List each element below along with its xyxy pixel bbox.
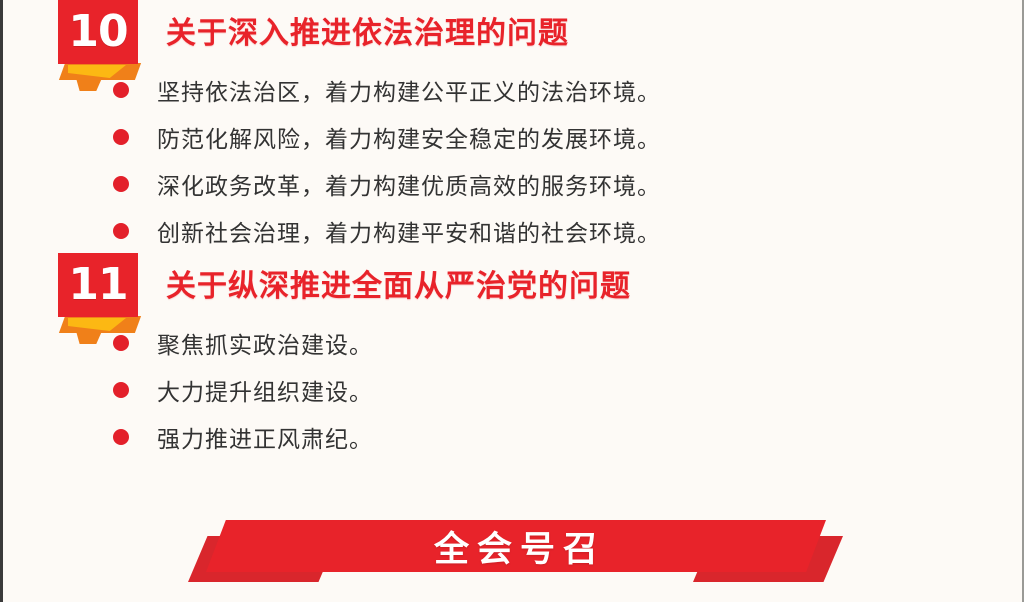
- list-item: 防范化解风险，着力构建安全稳定的发展环境。: [3, 113, 1022, 160]
- bullet-dot-icon: [113, 223, 129, 239]
- banner-main-band: 全会号召: [206, 520, 826, 572]
- section-10-list: 坚持依法治区，着力构建公平正义的法治环境。 防范化解风险，着力构建安全稳定的发展…: [3, 66, 1022, 254]
- badge-square: 10: [58, 0, 138, 64]
- banner-label: 全会号召: [426, 521, 606, 572]
- bullet-dot-icon: [113, 82, 129, 98]
- section-11: 11 关于纵深推进全面从严治党的问题 聚焦抓实政治建设。 大力提升组织建设。: [3, 253, 1022, 460]
- list-item-label: 聚焦抓实政治建设。: [157, 326, 373, 360]
- bullet-dot-icon: [113, 382, 129, 398]
- bullet-dot-icon: [113, 429, 129, 445]
- section-11-header: 11 关于纵深推进全面从严治党的问题: [3, 253, 1022, 319]
- list-item-label: 防范化解风险，着力构建安全稳定的发展环境。: [157, 120, 661, 154]
- list-item-label: 深化政务改革，着力构建优质高效的服务环境。: [157, 167, 661, 201]
- bullet-dot-icon: [113, 176, 129, 192]
- badge-number: 11: [68, 263, 127, 307]
- list-item-label: 强力推进正风肃纪。: [157, 420, 373, 454]
- list-item: 大力提升组织建设。: [3, 366, 1022, 413]
- list-item: 深化政务改革，着力构建优质高效的服务环境。: [3, 160, 1022, 207]
- list-item-label: 大力提升组织建设。: [157, 373, 373, 407]
- list-item-label: 创新社会治理，着力构建平安和谐的社会环境。: [157, 214, 661, 248]
- bullet-dot-icon: [113, 129, 129, 145]
- list-item-label: 坚持依法治区，着力构建公平正义的法治环境。: [157, 73, 661, 107]
- call-to-action-banner: 全会号召: [3, 512, 1022, 592]
- list-item: 创新社会治理，着力构建平安和谐的社会环境。: [3, 207, 1022, 254]
- badge-number: 10: [68, 10, 127, 54]
- badge-square: 11: [58, 253, 138, 317]
- section-11-list: 聚焦抓实政治建设。 大力提升组织建设。 强力推进正风肃纪。: [3, 319, 1022, 460]
- list-item: 聚焦抓实政治建设。: [3, 319, 1022, 366]
- bullet-dot-icon: [113, 335, 129, 351]
- list-item: 坚持依法治区，着力构建公平正义的法治环境。: [3, 66, 1022, 113]
- list-item: 强力推进正风肃纪。: [3, 413, 1022, 460]
- section-10-title: 关于深入推进依法治理的问题: [166, 8, 569, 52]
- section-10: 10 关于深入推进依法治理的问题 坚持依法治区，着力构建公平正义的法治环境。 防…: [3, 0, 1022, 254]
- section-10-header: 10 关于深入推进依法治理的问题: [3, 0, 1022, 66]
- poster-page: 10 关于深入推进依法治理的问题 坚持依法治区，着力构建公平正义的法治环境。 防…: [0, 0, 1024, 602]
- section-11-title: 关于纵深推进全面从严治党的问题: [166, 261, 631, 305]
